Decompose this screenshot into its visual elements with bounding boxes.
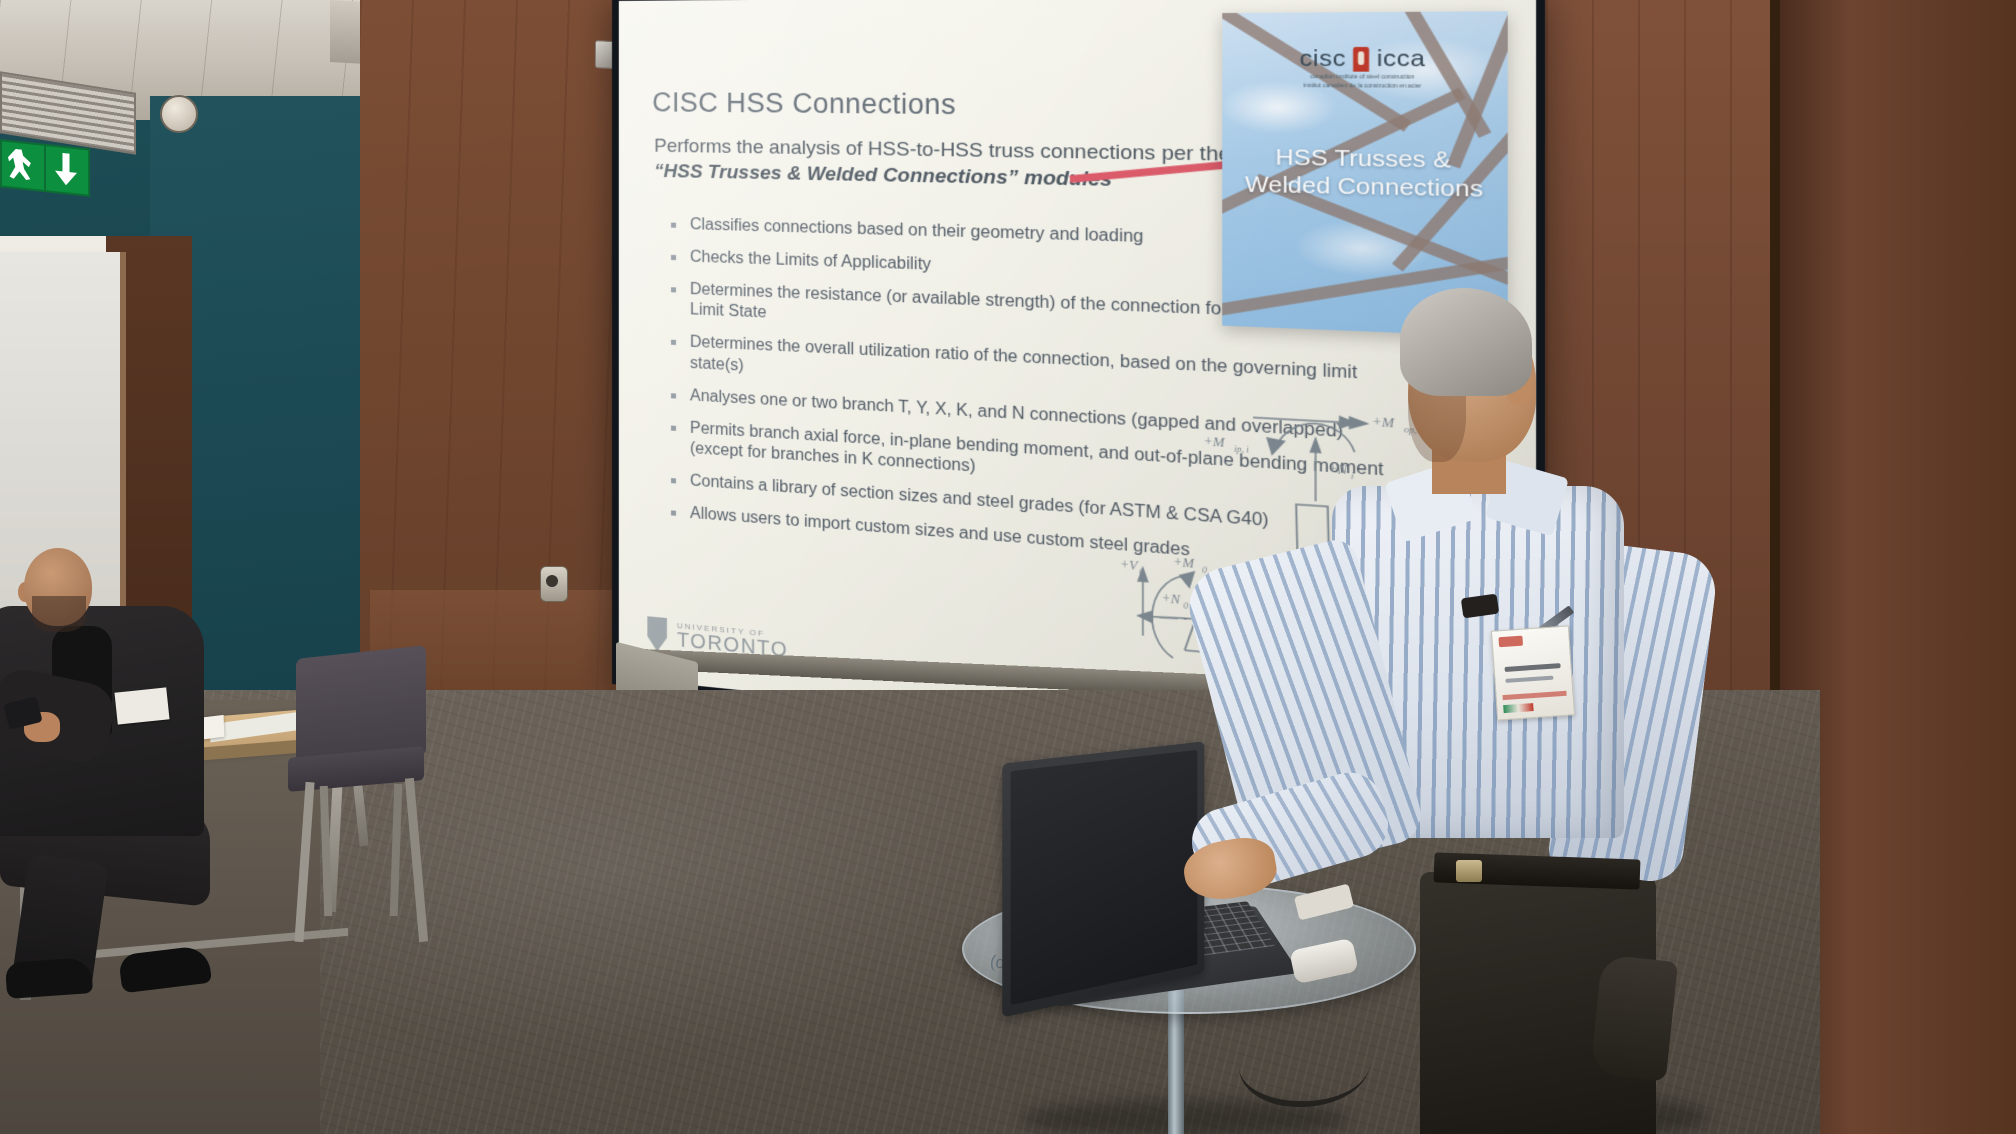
force-label: +M — [1372, 414, 1396, 431]
wall-sensor-lens — [546, 575, 558, 587]
book-cover-title: HSS Trusses & Welded Connections — [1222, 143, 1508, 205]
uoft-crest-icon — [644, 616, 670, 653]
presenter-name-badge — [1491, 625, 1575, 720]
slide-title: CISC HSS Connections — [652, 87, 956, 121]
presenter-hair — [1400, 288, 1532, 396]
laptop-screen — [1002, 741, 1204, 1017]
presentation-room-scene: CISC HSS Connections Performs the analys… — [0, 0, 2016, 1134]
emergency-exit-sign — [0, 139, 90, 196]
badge-affiliation-line — [1505, 676, 1553, 683]
force-label: +N — [1328, 461, 1349, 478]
wall-clock — [160, 95, 198, 133]
force-label-sub: 0 — [1183, 601, 1188, 611]
force-label: +N — [1161, 590, 1181, 607]
cisc-logo-text: cisc — [1299, 46, 1345, 73]
badge-logo-icon — [1498, 636, 1523, 648]
attendee-name-badge — [114, 687, 169, 724]
force-label: +M — [1203, 433, 1226, 450]
force-label-sub: ip, i — [1234, 444, 1249, 455]
cisc-logo-subtitle: canadian institute of steel construction… — [1304, 74, 1422, 91]
exit-running-man-icon — [2, 141, 46, 190]
cisc-subtitle-fr: institut canadien de la construction en … — [1304, 82, 1422, 91]
badge-name-line — [1505, 663, 1561, 672]
presenter-pocket-hand — [1590, 954, 1678, 1081]
attendee-shoe — [5, 957, 93, 999]
cisc-icca-logo: cisc icca — [1299, 46, 1425, 73]
laptop-display — [1011, 750, 1198, 1005]
force-label-sub: 0 — [1139, 567, 1144, 577]
icca-logo-text: icca — [1377, 46, 1426, 73]
badge-accent-bar — [1502, 691, 1566, 700]
belt-buckle — [1456, 860, 1482, 882]
cisc-subtitle-en: canadian institute of steel construction — [1304, 74, 1422, 83]
force-label-sub: i — [1351, 471, 1354, 481]
exit-down-arrow-icon — [46, 146, 88, 194]
attendee-beard — [32, 596, 86, 632]
badge-flag-icon — [1503, 703, 1533, 713]
force-label: +M — [1173, 554, 1195, 571]
force-label: +V — [1120, 557, 1140, 574]
cisc-logo-mark-icon — [1353, 47, 1369, 72]
